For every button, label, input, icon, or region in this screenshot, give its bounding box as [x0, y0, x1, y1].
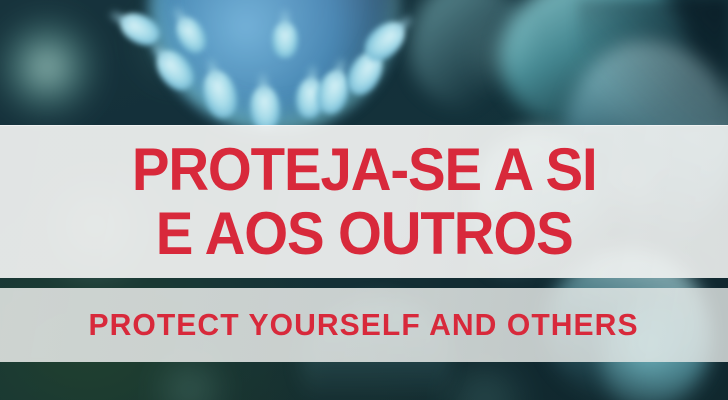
page-title: PROTEJA-SE A SI E AOS OUTROS: [132, 139, 597, 265]
vignette-overlay: [578, 0, 728, 130]
subtitle-band: PROTECT YOURSELF AND OTHERS: [0, 288, 728, 362]
headline-line-2: E AOS OUTROS: [132, 203, 597, 265]
headline-band: PROTEJA-SE A SI E AOS OUTROS: [0, 125, 728, 278]
poster-banner: PROTEJA-SE A SI E AOS OUTROS PROTECT YOU…: [0, 0, 728, 400]
virus-spike-icon: [272, 22, 298, 58]
subtitle-text: PROTECT YOURSELF AND OTHERS: [89, 307, 639, 343]
headline-line-1: PROTEJA-SE A SI: [132, 139, 597, 201]
